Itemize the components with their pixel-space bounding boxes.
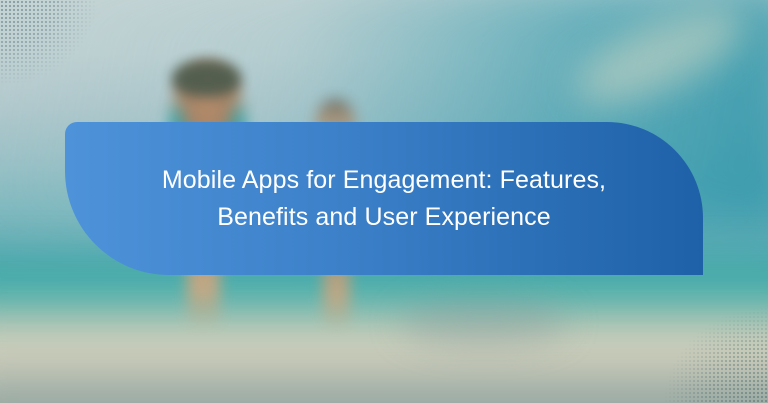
shoreline-shadow-layer xyxy=(0,363,768,403)
page-title: Mobile Apps for Engagement: Features, Be… xyxy=(134,162,634,236)
hero-banner-card: Mobile Apps for Engagement: Features, Be… xyxy=(0,0,768,403)
blurred-person-primary-hair xyxy=(172,60,241,96)
water-highlight xyxy=(399,298,568,346)
blurred-person-secondary-legs xyxy=(323,266,351,330)
title-banner: Mobile Apps for Engagement: Features, Be… xyxy=(65,122,703,275)
